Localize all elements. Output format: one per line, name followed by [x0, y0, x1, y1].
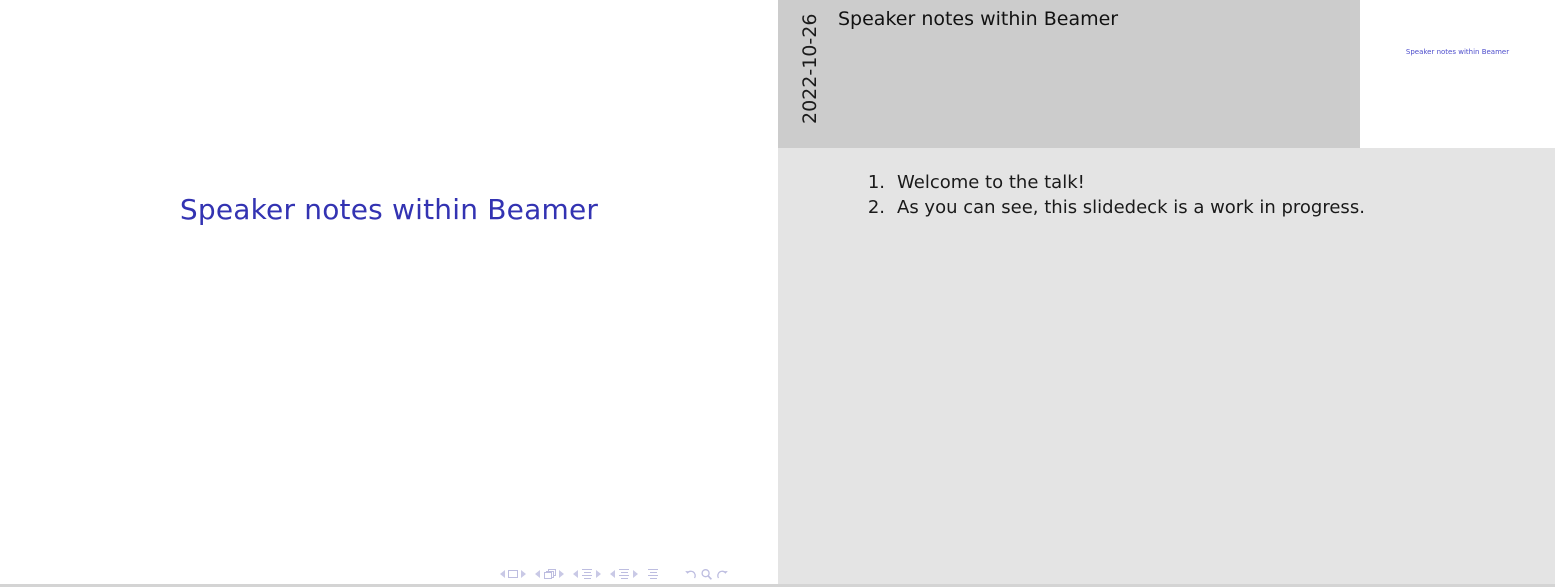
slide-thumbnail[interactable]: Speaker notes within Beamer	[1360, 0, 1555, 148]
presentation-navigation-group[interactable]	[647, 569, 659, 580]
triangle-left-icon[interactable]	[610, 570, 615, 578]
frame-navigation-group[interactable]	[535, 569, 564, 579]
triangle-right-icon[interactable]	[633, 570, 638, 578]
triangle-right-icon[interactable]	[521, 570, 526, 578]
subsection-navigation-group[interactable]	[573, 569, 601, 580]
section-navigation-group[interactable]	[610, 569, 638, 580]
notes-list: 1. Welcome to the talk! 2. As you can se…	[778, 172, 1555, 222]
navigation-tools-group[interactable]	[684, 568, 729, 581]
section-lines-icon[interactable]	[618, 569, 630, 580]
notes-header-title: Speaker notes within Beamer	[838, 8, 1118, 30]
list-item: 2. As you can see, this slidedeck is a w…	[778, 197, 1555, 218]
list-item-number: 1.	[855, 172, 885, 193]
list-item-text: Welcome to the talk!	[897, 172, 1085, 193]
forward-arrow-icon[interactable]	[716, 568, 729, 581]
triangle-left-icon[interactable]	[535, 570, 540, 578]
notes-header: 2022-10-26 Speaker notes within Beamer	[778, 0, 1360, 148]
triangle-right-icon[interactable]	[559, 570, 564, 578]
list-item: 1. Welcome to the talk!	[778, 172, 1555, 193]
list-item-number: 2.	[855, 197, 885, 218]
slide-thumbnail-title: Speaker notes within Beamer	[1360, 48, 1555, 56]
notes-date: 2022-10-26	[799, 14, 821, 124]
list-item-text: As you can see, this slidedeck is a work…	[897, 197, 1365, 218]
triangle-right-icon[interactable]	[596, 570, 601, 578]
triangle-left-icon[interactable]	[500, 570, 505, 578]
triangle-left-icon[interactable]	[573, 570, 578, 578]
frames-stack-icon[interactable]	[543, 569, 556, 579]
slide-navigation-group[interactable]	[500, 570, 526, 578]
magnifier-icon[interactable]	[700, 568, 713, 581]
slide-title: Speaker notes within Beamer	[0, 193, 778, 226]
subsection-lines-icon[interactable]	[581, 569, 593, 580]
beamer-navigation-bar[interactable]	[500, 564, 778, 584]
slide-icon[interactable]	[508, 570, 518, 578]
presentation-lines-icon[interactable]	[647, 569, 659, 580]
presentation-slide: Speaker notes within Beamer	[0, 0, 778, 584]
speaker-notes-page: 2022-10-26 Speaker notes within Beamer S…	[778, 0, 1555, 584]
back-arrow-icon[interactable]	[684, 568, 697, 581]
